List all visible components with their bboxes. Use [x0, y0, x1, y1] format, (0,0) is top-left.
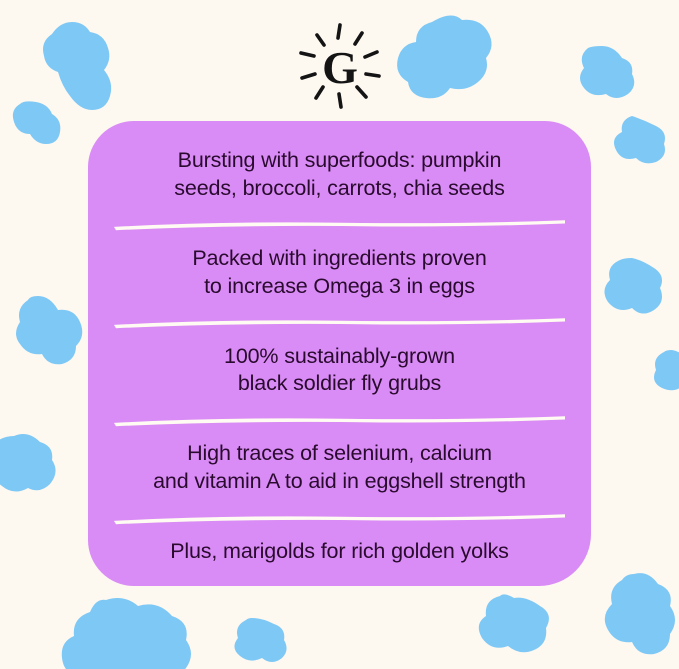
cloud-blob [62, 598, 191, 669]
cloud-blob [0, 434, 56, 492]
cloud-blob [614, 116, 665, 163]
brand-letter: G [322, 42, 358, 93]
sun-ray-icon [301, 53, 314, 56]
benefit-item-2: Packed with ingredients proven to increa… [110, 245, 569, 301]
benefit-item-4: High traces of selenium, calcium and vit… [110, 440, 569, 496]
sun-ray-icon [365, 52, 377, 57]
benefit-line: Plus, marigolds for rich golden yolks [110, 538, 569, 566]
benefit-line: seeds, broccoli, carrots, chia seeds [110, 175, 569, 203]
cloud-blob [16, 296, 82, 364]
sun-ray-icon [338, 25, 340, 38]
divider-brushstroke [110, 412, 569, 429]
sun-ray-icon [357, 87, 366, 97]
benefit-line: Packed with ingredients proven [110, 245, 569, 273]
benefit-line: to increase Omega 3 in eggs [110, 273, 569, 301]
divider-brushstroke [110, 216, 569, 233]
benefits-card: Bursting with superfoods: pumpkin seeds,… [88, 121, 591, 586]
benefit-item-3: 100% sustainably-grown black soldier fly… [110, 343, 569, 399]
benefit-item-1: Bursting with superfoods: pumpkin seeds,… [110, 147, 569, 203]
cloud-blob [605, 573, 675, 654]
sun-with-letter-g-icon: G [296, 22, 384, 110]
cloud-blob [604, 258, 662, 314]
benefit-item-5: Plus, marigolds for rich golden yolks [110, 538, 569, 566]
sun-ray-icon [339, 94, 341, 107]
divider-brushstroke [110, 314, 569, 331]
benefit-line: High traces of selenium, calcium [110, 440, 569, 468]
sun-ray-icon [302, 74, 315, 78]
benefit-line: and vitamin A to aid in eggshell strengt… [110, 468, 569, 496]
cloud-blob [654, 350, 679, 390]
benefit-line: black soldier fly grubs [110, 370, 569, 398]
cloud-blob [397, 15, 491, 98]
cloud-blob [479, 594, 549, 652]
cloud-blob [13, 101, 60, 144]
benefit-line: 100% sustainably-grown [110, 343, 569, 371]
infographic-canvas: G Bursting with superfoods: pumpkin seed… [0, 0, 679, 669]
sun-ray-icon [366, 74, 379, 76]
cloud-blob [234, 618, 286, 662]
cloud-blob [43, 22, 111, 110]
divider-brushstroke [110, 510, 569, 527]
cloud-blob [580, 46, 634, 98]
benefit-line: Bursting with superfoods: pumpkin [110, 147, 569, 175]
